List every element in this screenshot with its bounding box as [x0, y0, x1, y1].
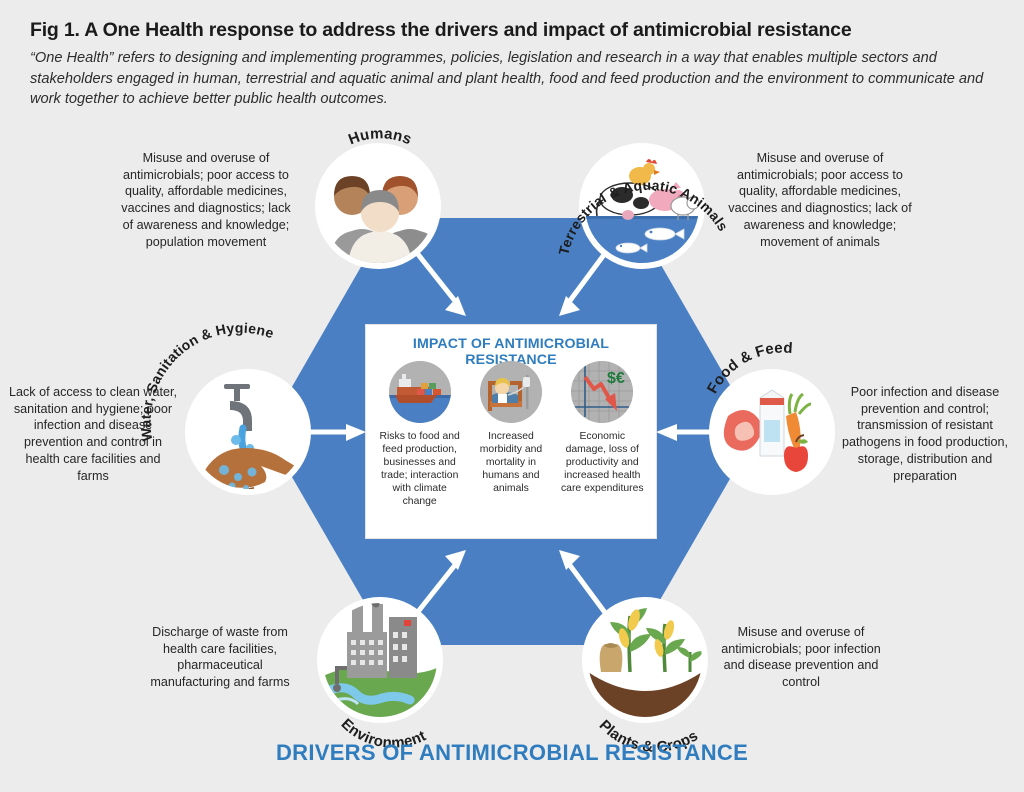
- impact-item: Increased morbidity and mortality in hum…: [465, 361, 556, 508]
- impact-item-text: Increased morbidity and mortality in hum…: [465, 430, 556, 495]
- bottom-title: DRIVERS OF ANTIMICROBIAL RESISTANCE: [0, 740, 1024, 766]
- impact-item-text: Economic damage, loss of productivity an…: [557, 430, 648, 495]
- node-plants[interactable]: [582, 597, 708, 723]
- impact-item-text: Risks to food and feed production, busin…: [374, 430, 465, 508]
- impact-panel: IMPACT OF ANTIMICROBIAL RESISTANCE: [366, 325, 656, 538]
- impact-item: $€ Economic damage, loss of productivity…: [557, 361, 648, 508]
- node-food[interactable]: [709, 369, 835, 495]
- driver-text-water: Lack of access to clean water, sanitatio…: [8, 384, 178, 484]
- declining-chart-icon: $€: [571, 361, 633, 423]
- impact-item: Risks to food and feed production, busin…: [374, 361, 465, 508]
- driver-text-environment: Discharge of waste from health care faci…: [136, 624, 304, 691]
- node-water[interactable]: [185, 369, 311, 495]
- cargo-ship-icon: [389, 361, 451, 423]
- driver-text-animals: Misuse and overuse of antimicrobials; po…: [726, 150, 914, 250]
- svg-text:$€: $€: [607, 370, 625, 387]
- driver-text-plants: Misuse and overuse of antimicrobials; po…: [714, 624, 888, 691]
- patient-in-bed-icon: [480, 361, 542, 423]
- node-animals[interactable]: [579, 143, 705, 269]
- driver-text-food: Poor infection and disease prevention an…: [832, 384, 1018, 484]
- driver-text-humans: Misuse and overuse of antimicrobials; po…: [116, 150, 296, 250]
